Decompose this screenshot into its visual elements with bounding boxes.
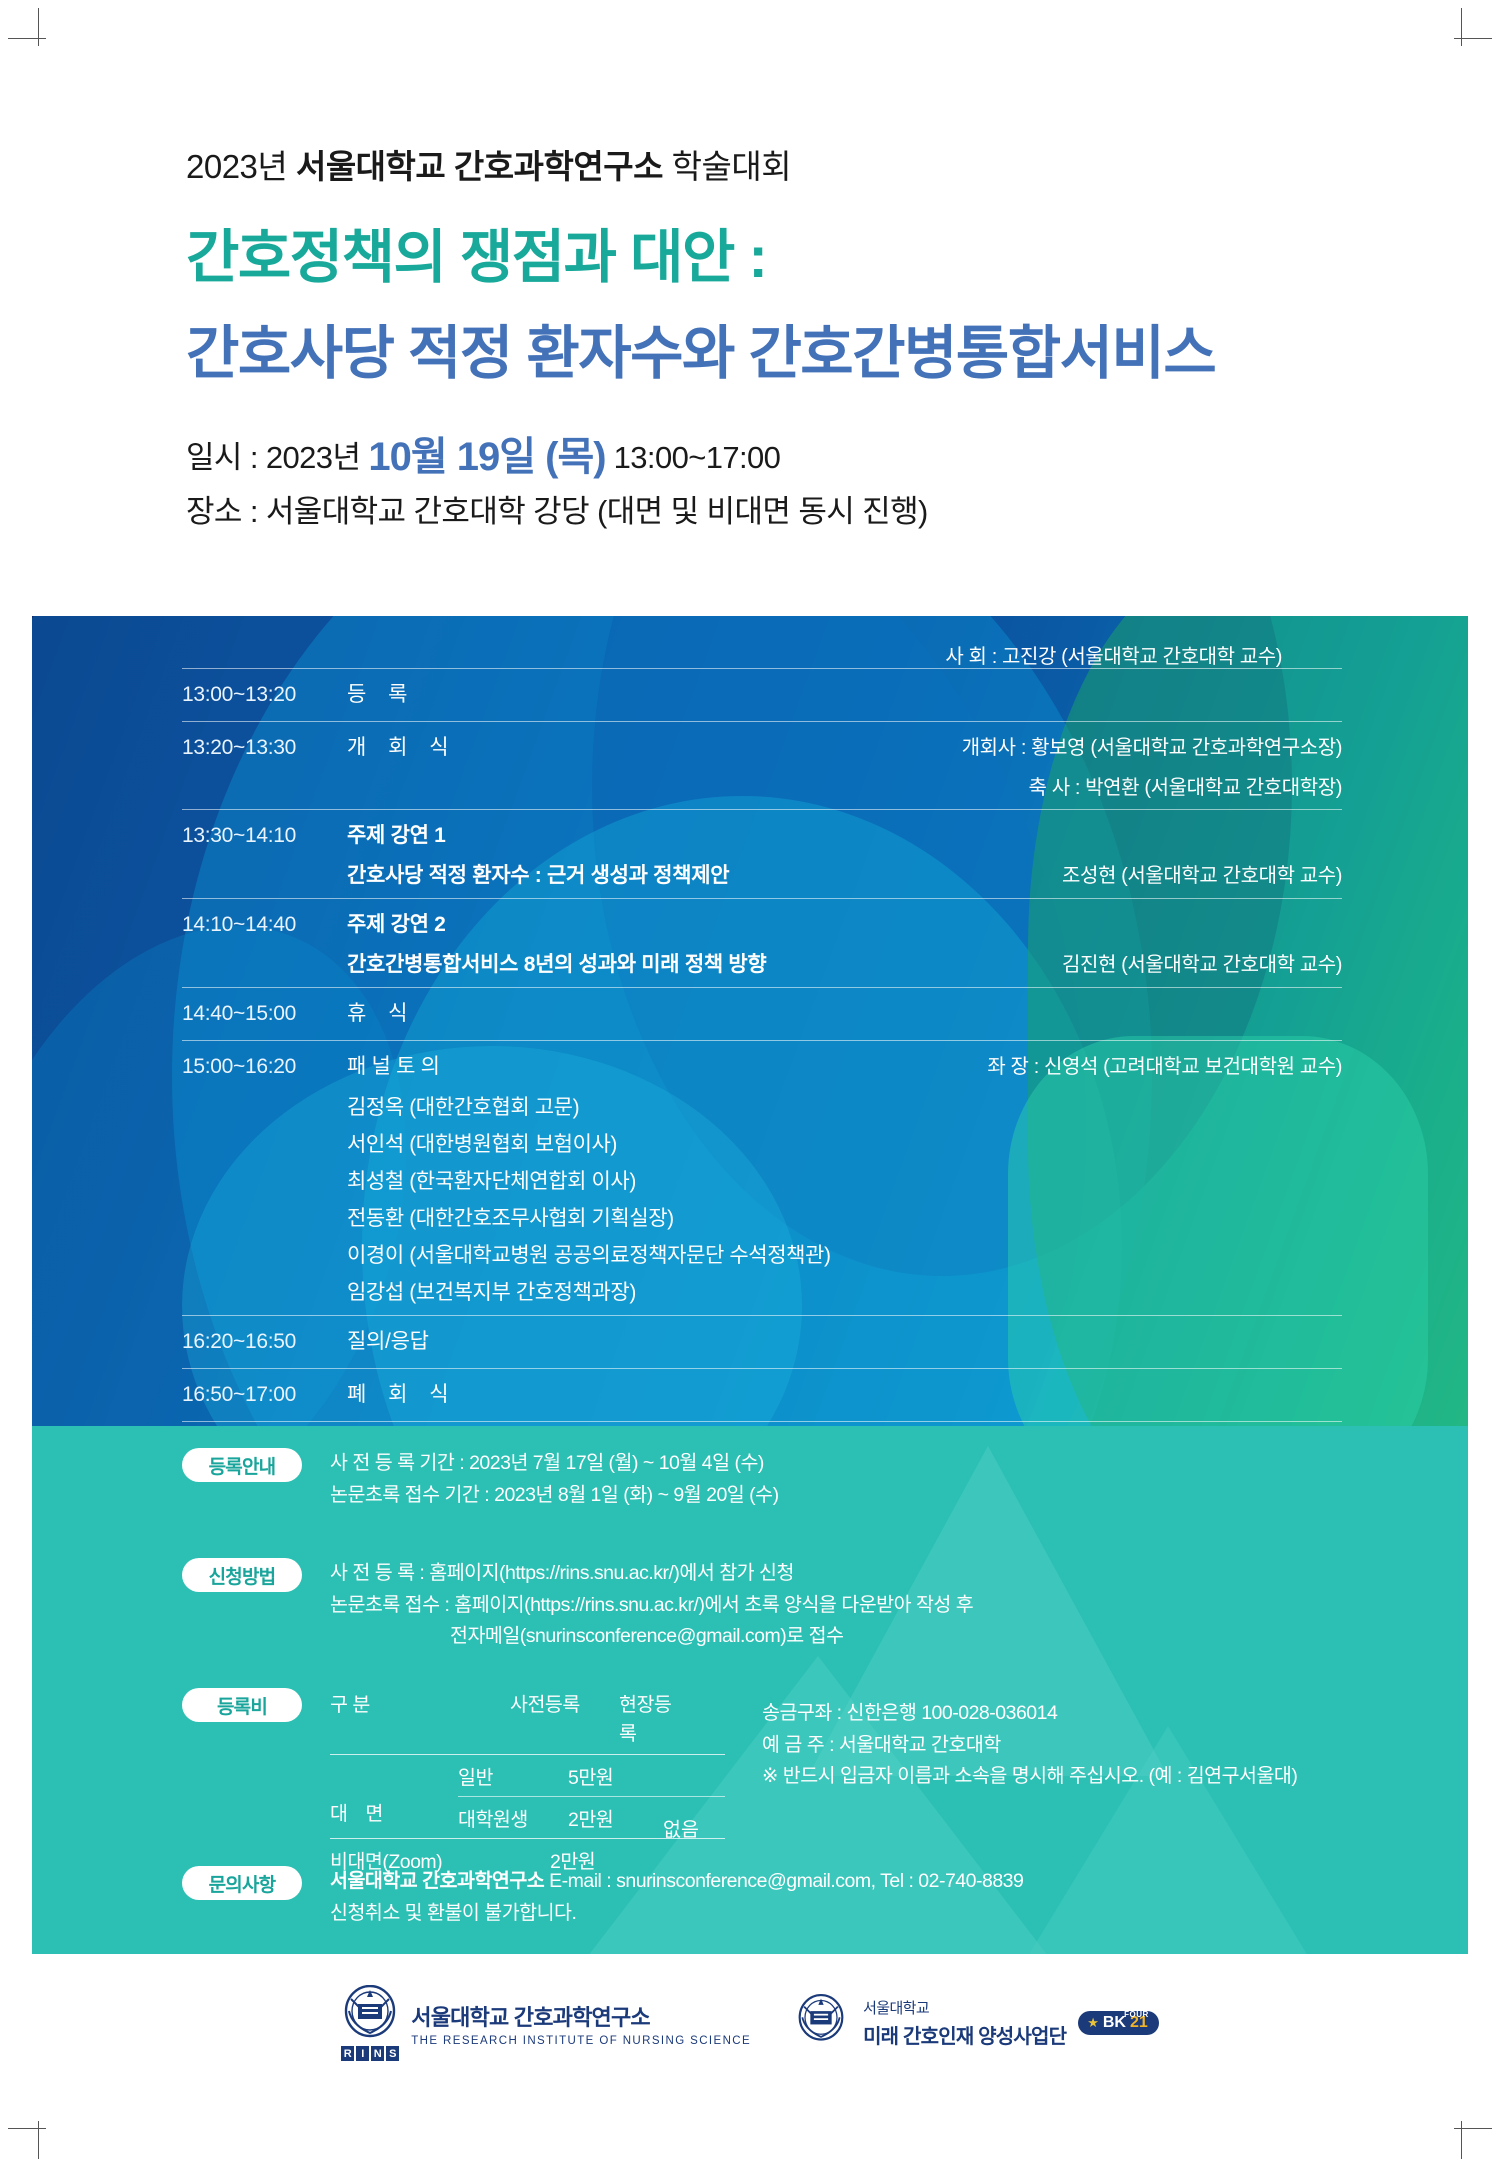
crop-mark [38,2121,39,2159]
event-datetime: 일시 : 2023년 10월 19일 (목) 13:00~17:00 [186,426,1366,488]
row-subtitle: 간호사당 적정 환자수 : 근거 생성과 정책제안 [347,859,1062,889]
apply-email: 전자메일(snurinsconference@gmail.com)로 접수 [330,1621,973,1653]
crop-mark [38,8,39,46]
contact-block: 문의사항 서울대학교 간호과학연구소 E-mail : snurinsconfe… [182,1866,1023,1929]
bk21-label: BK [1103,2014,1126,2032]
contact-line: 서울대학교 간호과학연구소 E-mail : snurinsconference… [330,1866,1023,1898]
panelist: 이경이 (서울대학교병원 공공의료정책자문단 수석정책관) [182,1239,1342,1269]
bank-account: 송금구좌 : 신한은행 100-028-036014 [762,1698,1297,1730]
row-time: 13:00~13:20 [182,683,347,707]
fee-amount-onsite: 없음 [663,1813,699,1842]
bank-holder: 예 금 주 : 서울대학교 간호대학 [762,1730,1297,1762]
fee-block: 등록비 구 분 사전등록 현장등록 대 면 [182,1688,725,1874]
bank-info: 송금구좌 : 신한은행 100-028-036014 예 금 주 : 서울대학교… [762,1698,1297,1793]
fee-head-pre: 사전등록 [510,1688,605,1717]
panelist: 최성철 (한국환자단체연합회 이사) [182,1165,1342,1195]
refund-notice: 신청취소 및 환불이 불가합니다. [330,1898,1023,1930]
schedule-host: 사 회 : 고진강 (서울대학교 간호대학 교수) [945,640,1282,669]
kicker-organizer: 서울대학교 간호과학연구소 [296,148,663,185]
schedule-row: 16:50~17:00 폐 회 식 [182,1368,1342,1422]
fee-head-category: 구 분 [330,1688,458,1717]
fee-amount-pre: 5만원 [568,1761,663,1790]
crop-mark [1461,8,1462,46]
schedule-row: 14:10~14:40 주제 강연 2 간호간병통합서비스 8년의 성과와 미래… [182,898,1342,987]
row-time: 16:50~17:00 [182,1383,347,1407]
crop-mark [8,38,46,39]
schedule-row: 14:40~15:00 휴 식 [182,987,1342,1040]
info-panel: 등록안내 사 전 등 록 기간 : 2023년 7월 17일 (월) ~ 10월… [32,1426,1468,1954]
crop-mark [1454,2128,1492,2129]
fee-table-header: 구 분 사전등록 현장등록 [330,1688,725,1754]
fee-head-onsite: 현장등록 [619,1688,681,1746]
schedule-panel: 사 회 : 고진강 (서울대학교 간호대학 교수) 13:00~13:20 등 … [32,616,1468,1426]
row-title: 개 회 식 [347,731,962,761]
snu-crest-icon [797,1994,851,2052]
fee-type: 일반 [458,1761,568,1790]
row-time: 16:20~16:50 [182,1330,347,1354]
panelist: 서인석 (대한병원협회 보험이사) [182,1128,1342,1158]
event-meta: 일시 : 2023년 10월 19일 (목) 13:00~17:00 장소 : … [186,426,1366,536]
event-location: 장소 : 서울대학교 간호대학 강당 (대면 및 비대면 동시 진행) [186,488,1366,536]
row-speaker: 조성현 (서울대학교 간호대학 교수) [1062,859,1342,888]
row-opening-remarks: 개회사 : 황보영 (서울대학교 간호과학연구소장) [962,731,1342,760]
row-time: 14:40~15:00 [182,1002,347,1026]
contact-org: 서울대학교 간호과학연구소 [330,1870,544,1892]
panelist: 김정옥 (대한간호협회 고문) [182,1091,1342,1121]
row-title: 주제 강연 2 [347,908,1342,938]
bk21-sup: FOUR [1124,2010,1149,2019]
page-title-line2: 간호사당 적정 환자수와 간호간병통합서비스 [186,306,1366,390]
apply-method-block: 신청방법 사 전 등 록 : 홈페이지(https://rins.snu.ac.… [182,1558,973,1653]
registration-badge: 등록안내 [182,1448,302,1482]
fee-badge: 등록비 [182,1688,302,1722]
date-suffix: 13:00~17:00 [606,440,781,475]
panelist: 전동환 (대한간호조무사협회 기획실장) [182,1202,1342,1232]
apply-abstract: 논문초록 접수 : 홈페이지(https://rins.snu.ac.kr/)에… [330,1590,973,1622]
fee-table: 구 분 사전등록 현장등록 대 면 일반 5만원 [330,1688,725,1874]
row-title: 등 록 [347,678,1342,708]
schedule-row: 16:20~16:50 질의/응답 [182,1315,1342,1368]
panelist: 임강섭 (보건복지부 간호정책과장) [182,1276,1342,1306]
logo-bk21: 서울대학교 미래 간호인재 양성사업단 ★ BK 21 FOUR [797,1994,1159,2052]
schedule-row: 13:00~13:20 등 록 [182,668,1342,721]
logo-rins: RINS 서울대학교 간호과학연구소 THE RESEARCH INSTITUT… [341,1985,751,2061]
registration-period: 사 전 등 록 기간 : 2023년 7월 17일 (월) ~ 10월 4일 (… [330,1448,779,1480]
schedule-row: 13:20~13:30 개 회 식 개회사 : 황보영 (서울대학교 간호과학연… [182,721,1342,809]
row-title: 패 널 토 의 [347,1050,987,1080]
row-time: 13:20~13:30 [182,736,347,760]
date-prefix: 일시 : 2023년 [186,440,368,475]
apply-preregistration: 사 전 등 록 : 홈페이지(https://rins.snu.ac.kr/)에… [330,1558,973,1590]
poster-root: 2023년 서울대학교 간호과학연구소 학술대회 간호정책의 쟁점과 대안 : … [0,0,1500,2167]
rins-name-en: THE RESEARCH INSTITUTE OF NURSING SCIENC… [411,2035,751,2047]
crop-mark [1461,2121,1462,2159]
bk21-org-line1: 서울대학교 [863,1997,1066,2018]
contact-detail: E-mail : snurinsconference@gmail.com, Te… [544,1870,1023,1892]
bk21-org-line2: 미래 간호인재 양성사업단 [863,2020,1066,2049]
row-speaker: 김진현 (서울대학교 간호대학 교수) [1062,948,1342,977]
row-time: 13:30~14:10 [182,824,347,848]
rins-wordmark: RINS [341,2046,399,2061]
bk21-badge: ★ BK 21 FOUR [1078,2011,1159,2035]
fee-group-label: 대 면 [330,1797,389,1826]
snu-crest-icon [343,1985,397,2043]
row-title: 질의/응답 [347,1325,1342,1355]
footer-logos: RINS 서울대학교 간호과학연구소 THE RESEARCH INSTITUT… [0,1985,1500,2061]
poster-header: 2023년 서울대학교 간호과학연구소 학술대회 간호정책의 쟁점과 대안 : … [186,140,1366,536]
contact-badge: 문의사항 [182,1866,302,1900]
bank-notice: ※ 반드시 입금자 이름과 소속을 명시해 주십시오. (예 : 김연구서울대) [762,1761,1297,1793]
crop-mark [8,2128,46,2129]
abstract-period: 논문초록 접수 기간 : 2023년 8월 1일 (화) ~ 9월 20일 (수… [330,1480,779,1512]
star-icon: ★ [1087,2015,1099,2031]
fee-amount-pre: 2만원 [568,1803,663,1832]
fee-type: 대학원생 [458,1803,568,1832]
registration-block: 등록안내 사 전 등 록 기간 : 2023년 7월 17일 (월) ~ 10월… [182,1448,779,1511]
schedule-rows: 13:00~13:20 등 록 13:20~13:30 개 회 식 개회사 : … [182,668,1342,1422]
row-time: 14:10~14:40 [182,913,347,937]
row-title: 폐 회 식 [347,1378,1342,1408]
row-title: 주제 강연 1 [347,819,1342,849]
fee-rows: 대 면 일반 5만원 대학원생 2만원 [330,1755,725,1874]
kicker-pre: 2023년 [186,148,296,185]
row-time: 15:00~16:20 [182,1055,347,1079]
schedule-row: 13:30~14:10 주제 강연 1 간호사당 적정 환자수 : 근거 생성과… [182,809,1342,898]
page-title-line1: 간호정책의 쟁점과 대안 : [186,210,1366,294]
schedule-row: 15:00~16:20 패 널 토 의 좌 장 : 신영석 (고려대학교 보건대… [182,1040,1342,1315]
row-title: 휴 식 [347,997,1342,1027]
kicker-post: 학술대회 [663,148,791,185]
apply-method-badge: 신청방법 [182,1558,302,1592]
row-moderator: 좌 장 : 신영석 (고려대학교 보건대학원 교수) [987,1050,1342,1079]
row-subtitle: 간호간병통합서비스 8년의 성과와 미래 정책 방향 [347,948,1062,978]
date-highlight: 10월 19일 (목) [368,435,605,479]
crop-mark [1454,38,1492,39]
rins-name-ko: 서울대학교 간호과학연구소 [411,2000,751,2032]
row-congratulatory-remarks: 축 사 : 박연환 (서울대학교 간호대학장) [1029,771,1342,800]
event-kicker: 2023년 서울대학교 간호과학연구소 학술대회 [186,140,1366,188]
